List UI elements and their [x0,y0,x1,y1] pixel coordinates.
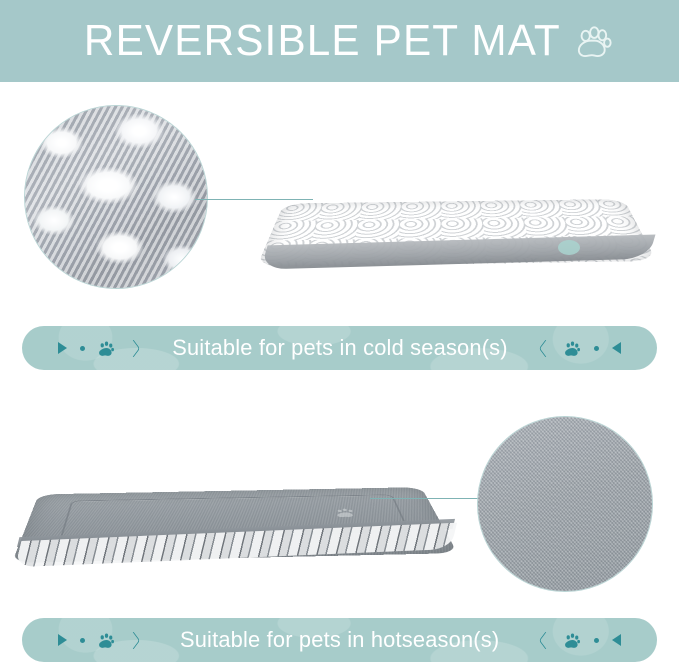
triangle-right-filled-icon [58,634,67,646]
banner-decorations-left [58,340,139,357]
paw-logo-icon [332,507,359,518]
triangle-left-outline-icon [539,339,552,357]
banner-decorations-right [540,340,621,357]
dot-icon [594,638,599,643]
triangle-right-outline-icon [127,631,140,649]
dot-icon [80,346,85,351]
plush-texture-fill [24,105,208,289]
gray-reverse-mat [14,410,474,600]
paw-icon [98,632,115,649]
section-hot-season [0,398,679,610]
banner-decorations-right [540,632,621,649]
paw-icon [564,340,581,357]
paw-icon [98,340,115,357]
banner-decorations-left [58,632,139,649]
triangle-right-outline-icon [127,339,140,357]
banner-text-hot: Suitable for pets in hotseason(s) [180,627,499,653]
banner-hot-season: Suitable for pets in hotseason(s) [22,618,657,662]
connector-line-hot [370,498,490,499]
triangle-right-filled-icon [58,342,67,354]
header-band: REVERSIBLE PET MAT [0,0,679,82]
banner-cold-season: Suitable for pets in cold season(s) [22,326,657,370]
dot-icon [80,638,85,643]
triangle-left-filled-icon [612,342,621,354]
stone-print-mat [258,132,658,292]
triangle-left-filled-icon [612,634,621,646]
paw-icon [575,24,613,62]
plush-texture-closeup [24,105,208,289]
triangle-left-outline-icon [539,631,552,649]
gray-fabric-fill [477,416,653,592]
banner-text-cold: Suitable for pets in cold season(s) [172,335,508,361]
banner-row: Suitable for pets in hotseason(s) [22,618,657,662]
banner-row: Suitable for pets in cold season(s) [22,326,657,370]
section-cold-season [0,82,679,318]
paw-icon [564,632,581,649]
page-title: REVERSIBLE PET MAT [84,19,561,63]
dot-icon [594,346,599,351]
connector-node-cold [558,240,580,255]
gray-fabric-closeup [477,416,653,592]
